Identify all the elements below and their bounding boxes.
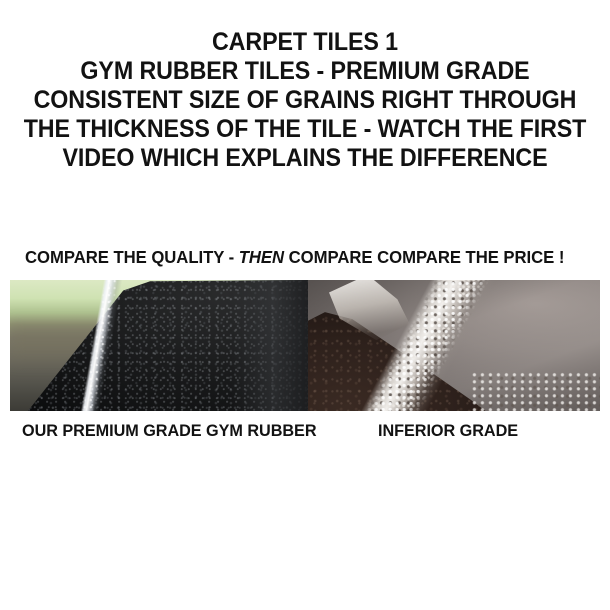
headline-line-2: GYM RUBBER TILES - PREMIUM GRADE xyxy=(21,57,588,86)
premium-rubber-photo xyxy=(10,280,308,411)
inferior-tile-bottom-crumb xyxy=(472,372,600,411)
subtitle-text-after: COMPARE COMPARE THE PRICE ! xyxy=(284,247,564,267)
headline-line-5: VIDEO WHICH EXPLAINS THE DIFFERENCE xyxy=(21,144,588,173)
headline-block: CARPET TILES 1 GYM RUBBER TILES - PREMIU… xyxy=(0,28,610,173)
comparison-photo-strip xyxy=(10,280,600,411)
subtitle-emphasis-then: THEN xyxy=(239,247,284,267)
photo-caption-row: OUR PREMIUM GRADE GYM RUBBER INFERIOR GR… xyxy=(0,420,610,444)
headline-line-3: CONSISTENT SIZE OF GRAINS RIGHT THROUGH xyxy=(21,86,588,115)
inferior-rubber-photo xyxy=(308,280,600,411)
compare-quality-subtitle: COMPARE THE QUALITY - THEN COMPARE COMPA… xyxy=(25,247,564,268)
product-banner: CARPET TILES 1 GYM RUBBER TILES - PREMIU… xyxy=(0,0,610,610)
premium-tile-edge-grain xyxy=(10,280,213,411)
subtitle-text-before: COMPARE THE QUALITY - xyxy=(25,247,239,267)
premium-tile-side-face xyxy=(231,280,308,411)
headline-line-4: THE THICKNESS OF THE TILE - WATCH THE FI… xyxy=(21,115,588,144)
caption-premium-grade: OUR PREMIUM GRADE GYM RUBBER xyxy=(22,420,317,442)
caption-inferior-grade: INFERIOR GRADE xyxy=(378,420,518,442)
headline-line-1: CARPET TILES 1 xyxy=(21,28,588,57)
